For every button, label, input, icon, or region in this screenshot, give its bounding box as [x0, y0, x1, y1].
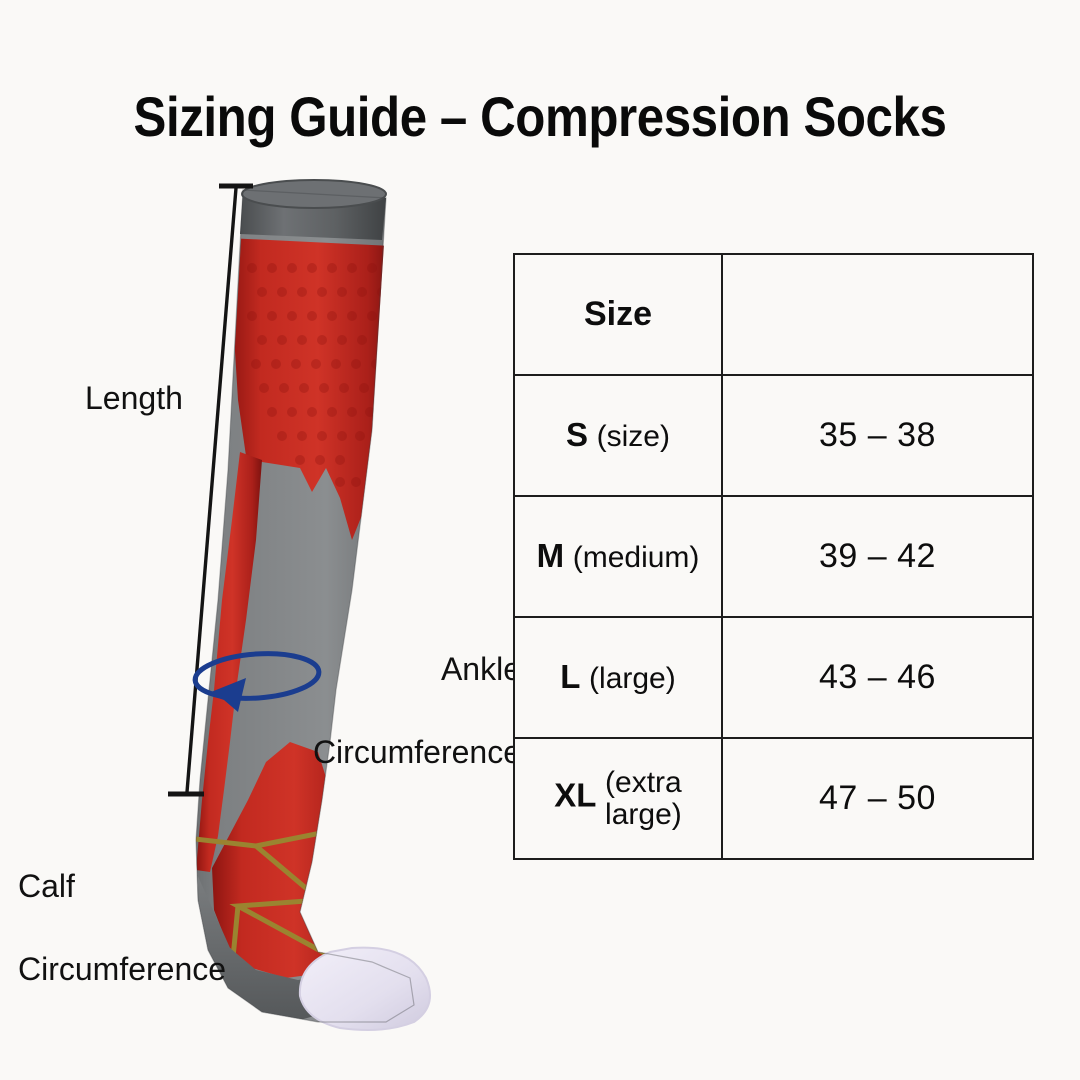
size-abbr-s: S — [566, 416, 588, 453]
size-full-m: (medium) — [573, 541, 700, 574]
value-cell-xl: 47 – 50 — [722, 738, 1033, 859]
value-cell-l: 43 – 46 — [722, 617, 1033, 738]
sock-toe-cap — [300, 948, 430, 1030]
header-value-empty — [722, 254, 1033, 375]
size-cell-s: S (size) — [514, 375, 722, 496]
table-row: M (medium) 39 – 42 — [514, 496, 1033, 617]
label-ankle-circumference: Ankle Circumference — [185, 607, 521, 815]
table-header-row: Size — [514, 254, 1033, 375]
label-calf-line-2: Circumference — [18, 949, 226, 991]
label-length-line-1: Length — [85, 378, 183, 420]
value-cell-m: 39 – 42 — [722, 496, 1033, 617]
header-size: Size — [514, 254, 722, 375]
size-full-xl-line-1: (extra — [605, 766, 682, 799]
label-calf-line-1: Calf — [18, 866, 226, 908]
sizing-guide-page: Sizing Guide – Compression Socks — [0, 0, 1080, 1080]
table-row: XL (extralarge) 47 – 50 — [514, 738, 1033, 859]
label-calf-circumference: Calf Circumference — [18, 824, 226, 1032]
size-full-s: (size) — [597, 420, 670, 453]
label-ankle-line-2: Circumference — [185, 732, 521, 774]
size-full-xl: (extralarge) — [605, 767, 682, 829]
size-abbr-m: M — [537, 537, 565, 574]
size-table: Size S (size) 35 – 38 M (medium) 39 – 42… — [513, 253, 1034, 860]
sock-cuff — [240, 180, 386, 240]
size-full-l: (large) — [589, 662, 676, 695]
size-abbr-l: L — [560, 658, 580, 695]
label-length: Length — [85, 336, 183, 461]
size-cell-m: M (medium) — [514, 496, 722, 617]
label-ankle-line-1: Ankle — [185, 649, 521, 691]
size-cell-xl: XL (extralarge) — [514, 738, 722, 859]
value-cell-s: 35 – 38 — [722, 375, 1033, 496]
table-row: L (large) 43 – 46 — [514, 617, 1033, 738]
table-row: S (size) 35 – 38 — [514, 375, 1033, 496]
size-full-xl-line-2: large) — [605, 798, 682, 831]
size-abbr-xl: XL — [554, 777, 596, 814]
size-cell-l: L (large) — [514, 617, 722, 738]
